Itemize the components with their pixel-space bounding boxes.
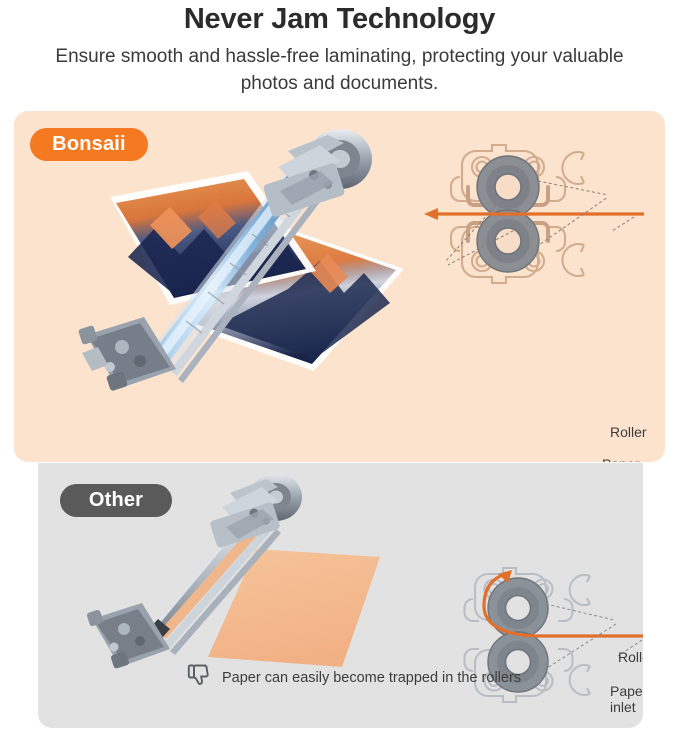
roller-schematic-bonsaii bbox=[412, 119, 662, 314]
caption-row-other: Paper can easily become trapped in the r… bbox=[187, 663, 521, 693]
label-roller-bonsaii: Roller bbox=[610, 424, 647, 440]
laminator-illustration-other bbox=[80, 471, 410, 686]
thumbs-down-icon bbox=[187, 663, 211, 693]
page-title: Never Jam Technology bbox=[0, 2, 679, 36]
panel-other: Other bbox=[38, 463, 643, 728]
roller-upper bbox=[477, 156, 539, 218]
caption-text-other: Paper can easily become trapped in the r… bbox=[222, 670, 521, 686]
laminator-illustration-bonsaii bbox=[52, 121, 412, 411]
paper-path-arrow-straight bbox=[424, 208, 644, 220]
page-header: Never Jam Technology Ensure smooth and h… bbox=[0, 0, 679, 97]
label-paper-inlet-bonsaii: Paper inlet bbox=[602, 456, 665, 462]
panel-bonsaii: Bonsaii bbox=[14, 111, 665, 462]
end-cap-frame bbox=[78, 317, 176, 391]
label-roller-other: Roller bbox=[618, 649, 643, 665]
page-subtitle: Ensure smooth and hassle-free laminating… bbox=[0, 43, 679, 97]
label-paper-inlet-other: Paper inlet bbox=[610, 683, 643, 715]
roller-lower bbox=[477, 210, 539, 272]
end-cap-frame-other bbox=[86, 603, 170, 669]
